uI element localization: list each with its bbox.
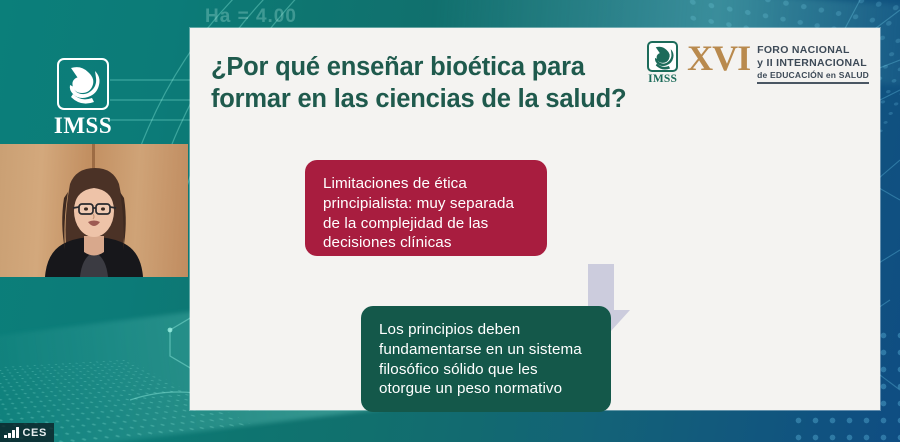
callout-box-limitations: Limitaciones de ética principialista: mu… bbox=[305, 160, 547, 256]
status-badge: CES bbox=[0, 423, 54, 442]
foro-divider bbox=[757, 82, 869, 84]
imss-wordmark: IMSS bbox=[43, 113, 123, 139]
foro-line-3: de EDUCACIÓN en SALUD bbox=[757, 70, 869, 80]
presentation-slide[interactable]: ¿Por qué enseñar bioética para formar en… bbox=[190, 28, 880, 410]
foro-roman-numeral: XVI bbox=[687, 42, 750, 75]
slide-logo-lockup: IMSS XVI FORO NACIONAL y II INTERNACIONA… bbox=[647, 41, 869, 85]
speaker-figure bbox=[0, 144, 188, 277]
foro-logo: XVI FORO NACIONAL y II INTERNACIONAL de … bbox=[687, 42, 869, 83]
status-badge-label: CES bbox=[23, 427, 47, 439]
foro-line-1: FORO NACIONAL bbox=[757, 44, 869, 57]
slide-imss-eagle-icon bbox=[647, 41, 678, 72]
slide-title: ¿Por qué enseñar bioética para formar en… bbox=[211, 52, 661, 115]
signal-bars-icon bbox=[4, 427, 19, 438]
foro-line-2: y II INTERNACIONAL bbox=[757, 57, 869, 70]
imss-eagle-icon bbox=[57, 58, 109, 110]
callout-box-principles: Los principios deben fundamentarse en un… bbox=[361, 306, 611, 412]
background-faint-text: Ha = 4.00 bbox=[205, 6, 297, 28]
speaker-webcam-tile[interactable] bbox=[0, 144, 188, 277]
slide-imss-logo: IMSS bbox=[647, 41, 678, 85]
imss-logo: IMSS bbox=[43, 58, 123, 139]
